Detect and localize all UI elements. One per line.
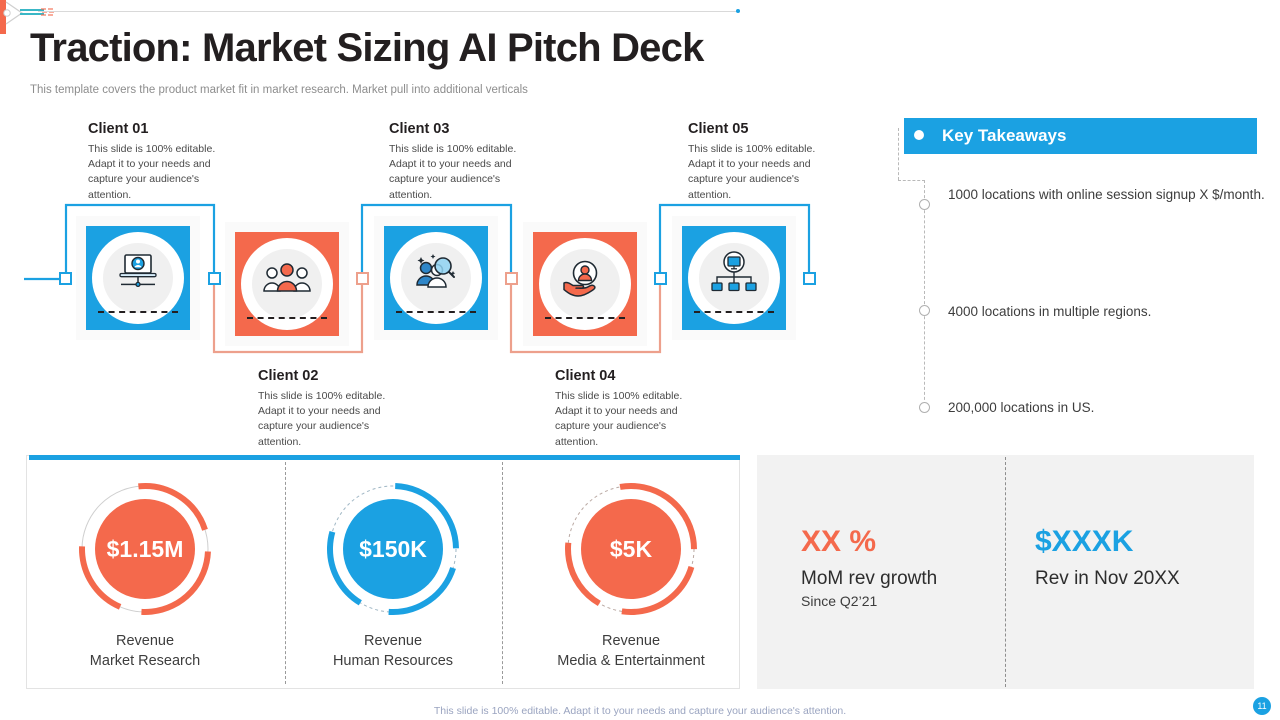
connector-node-2: [208, 272, 221, 285]
client-card-05[interactable]: [672, 216, 796, 340]
revenue-item-market-research: $1.15M Revenue Market Research: [55, 478, 235, 671]
tile-dash-line: [98, 311, 178, 313]
takeaway-timeline-line: [924, 180, 925, 410]
tile-dash-line: [247, 317, 327, 319]
decor-dot: [736, 9, 740, 13]
revenue-caption-line1: Revenue: [541, 632, 721, 652]
client-card-tile: [86, 226, 190, 330]
client-block-03: Client 03 This slide is 100% editable. A…: [389, 121, 539, 203]
takeaway-text: 4000 locations in multiple regions.: [948, 302, 1268, 321]
page-number-badge: 11: [1253, 697, 1271, 715]
team-group-icon: [262, 262, 312, 296]
revenue-item-media-entertainment: $5K Revenue Media & Entertainment: [541, 478, 721, 671]
revenue-caption-line2: Media & Entertainment: [541, 652, 721, 672]
takeaway-item-2: 4000 locations in multiple regions.: [948, 302, 1268, 321]
client-title: Client 05: [688, 121, 838, 137]
stat-rev-nov: $XXXK Rev in Nov 20XX: [1035, 525, 1180, 590]
client-body: This slide is 100% editable. Adapt it to…: [555, 389, 705, 450]
key-takeaways-bullet-icon: [914, 130, 924, 140]
revenue-caption-line1: Revenue: [303, 632, 483, 652]
client-card-tile: [533, 232, 637, 336]
client-body: This slide is 100% editable. Adapt it to…: [258, 389, 408, 450]
stat-value: XX %: [801, 525, 937, 558]
client-card-01[interactable]: [76, 216, 200, 340]
stat-sublabel: Since Q2’21: [801, 593, 937, 609]
client-title: Client 01: [88, 121, 238, 137]
revenue-donut: $5K: [560, 478, 702, 620]
key-takeaways-title: Key Takeaways: [942, 126, 1066, 146]
decor-dashes-icon: [40, 6, 56, 18]
revenue-divider-1: [285, 462, 286, 684]
key-takeaways-header: Key Takeaways: [904, 118, 1257, 154]
revenue-divider-2: [502, 462, 503, 684]
client-card-tile: [682, 226, 786, 330]
client-title: Client 03: [389, 121, 539, 137]
slide-canvas: Traction: Market Sizing AI Pitch Deck Th…: [0, 0, 1280, 720]
client-block-05: Client 05 This slide is 100% editable. A…: [688, 121, 838, 203]
client-block-01: Client 01 This slide is 100% editable. A…: [88, 121, 238, 203]
client-card-04[interactable]: [523, 222, 647, 346]
hand-holding-user-icon: [560, 258, 610, 300]
stat-value: $XXXK: [1035, 525, 1180, 558]
revenue-caption: Revenue Human Resources: [303, 632, 483, 671]
takeaway-marker-1: [919, 199, 930, 210]
takeaway-elbow-vertical: [898, 128, 899, 180]
user-research-magnifier-icon: [412, 251, 460, 295]
revenue-panel-topbar: [29, 455, 740, 460]
revenue-caption-line1: Revenue: [55, 632, 235, 652]
takeaway-elbow-horizontal: [898, 180, 925, 181]
decor-line-grey: [38, 11, 740, 12]
revenue-caption: Revenue Market Research: [55, 632, 235, 671]
client-block-04: Client 04 This slide is 100% editable. A…: [555, 368, 705, 450]
connector-node-4: [654, 272, 667, 285]
revenue-caption-line2: Human Resources: [303, 652, 483, 672]
takeaway-text: 200,000 locations in US.: [948, 398, 1268, 417]
takeaway-item-1: 1000 locations with online session signu…: [948, 185, 1268, 204]
page-title: Traction: Market Sizing AI Pitch Deck: [30, 26, 704, 71]
laptop-user-icon: [115, 251, 161, 295]
revenue-donut: $1.15M: [74, 478, 216, 620]
footer-note: This slide is 100% editable. Adapt it to…: [0, 705, 1280, 717]
stat-mom-rev-growth: XX % MoM rev growth Since Q2’21: [801, 525, 937, 609]
takeaway-text: 1000 locations with online session signu…: [948, 185, 1268, 204]
network-hierarchy-icon: [708, 251, 760, 295]
connector-node-1: [59, 272, 72, 285]
client-card-tile: [235, 232, 339, 336]
revenue-caption: Revenue Media & Entertainment: [541, 632, 721, 671]
client-block-02: Client 02 This slide is 100% editable. A…: [258, 368, 408, 450]
connector-node-5: [505, 272, 518, 285]
client-body: This slide is 100% editable. Adapt it to…: [688, 142, 838, 203]
connector-node-3: [356, 272, 369, 285]
client-title: Client 04: [555, 368, 705, 384]
revenue-value: $5K: [581, 499, 681, 599]
tile-dash-line: [396, 311, 476, 313]
client-card-tile: [384, 226, 488, 330]
revenue-value: $1.15M: [95, 499, 195, 599]
tile-dash-line: [694, 311, 774, 313]
revenue-item-human-resources: $150K Revenue Human Resources: [303, 478, 483, 671]
takeaway-marker-2: [919, 305, 930, 316]
revenue-caption-line2: Market Research: [55, 652, 235, 672]
connector-node-6: [803, 272, 816, 285]
client-card-03[interactable]: [374, 216, 498, 340]
stat-label: MoM rev growth: [801, 568, 937, 590]
client-body: This slide is 100% editable. Adapt it to…: [88, 142, 238, 203]
stats-divider: [1005, 457, 1006, 687]
client-body: This slide is 100% editable. Adapt it to…: [389, 142, 539, 203]
client-title: Client 02: [258, 368, 408, 384]
client-card-02[interactable]: [225, 222, 349, 346]
tile-dash-line: [545, 317, 625, 319]
revenue-donut: $150K: [322, 478, 464, 620]
takeaway-item-3: 200,000 locations in US.: [948, 398, 1268, 417]
page-subtitle: This template covers the product market …: [30, 84, 528, 96]
takeaway-marker-3: [919, 402, 930, 413]
stat-label: Rev in Nov 20XX: [1035, 568, 1180, 590]
revenue-value: $150K: [343, 499, 443, 599]
